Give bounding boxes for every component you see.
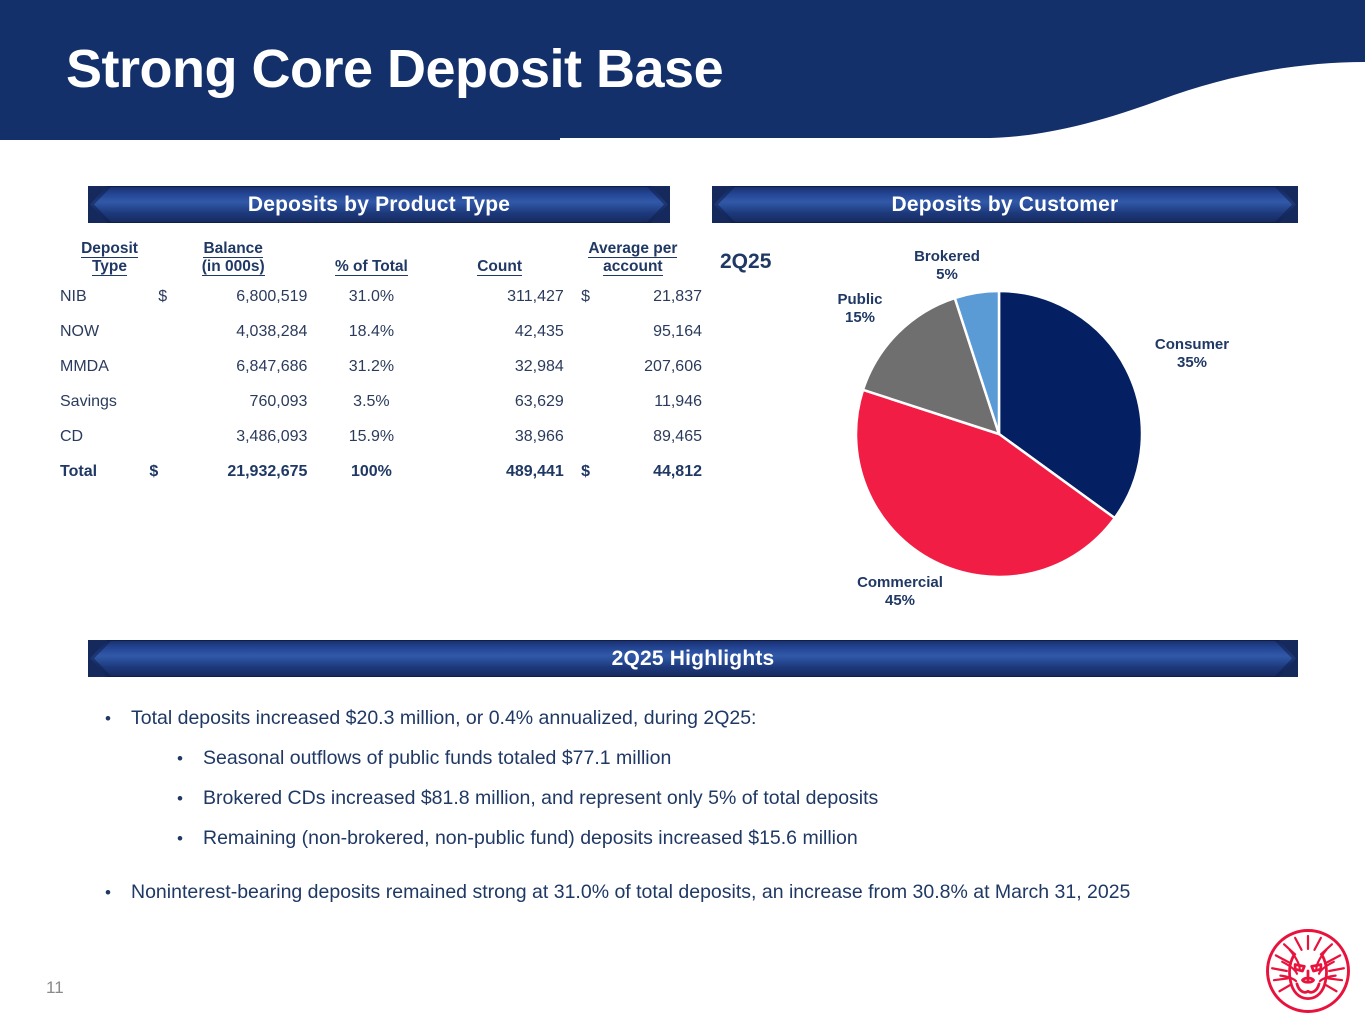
table-row: Savings760,0933.5%63,62911,946: [52, 384, 702, 419]
column-header-count: Count: [435, 240, 563, 279]
cell-average-per-account: 95,164: [564, 314, 702, 349]
table-total-row: Total$21,932,675100%489,441$44,812: [52, 454, 702, 489]
cell-percent-of-total: 15.9%: [307, 419, 435, 454]
cell-count: 38,966: [435, 419, 563, 454]
column-header-line2: account: [603, 258, 662, 276]
bullet-dot-icon: •: [177, 745, 203, 772]
column-header-line2: Type: [92, 258, 127, 276]
chevron-notch-left-icon: [88, 186, 112, 223]
column-header-line1: Deposit: [81, 240, 138, 258]
pie-label-name: Commercial: [857, 574, 943, 591]
cell-percent-of-total: 31.2%: [307, 349, 435, 384]
cell-deposit-type: MMDA: [52, 349, 159, 384]
banner-label: Deposits by Customer: [892, 193, 1119, 217]
column-header-line1: Average per: [588, 240, 677, 258]
column-header-average-per-account: Average per account: [564, 240, 702, 279]
cell-balance: 760,093: [159, 384, 307, 419]
bullet-item-level-2: •Remaining (non-brokered, non-public fun…: [177, 825, 1305, 852]
column-header-percent-of-total: % of Total: [307, 240, 435, 279]
cell-deposit-type: NOW: [52, 314, 159, 349]
bullet-text: Seasonal outflows of public funds totale…: [203, 745, 1305, 772]
cell-count: 311,427: [435, 279, 563, 314]
bullet-dot-icon: •: [105, 705, 131, 732]
pie-label-name: Brokered: [914, 248, 980, 265]
column-header-line1: Balance: [203, 240, 262, 258]
bullet-text: Noninterest-bearing deposits remained st…: [131, 879, 1305, 906]
deposits-by-customer-pie-chart: 2Q25 Brokered 5% Public 15% Consumer 35%…: [700, 236, 1300, 616]
cell-count: 63,629: [435, 384, 563, 419]
pie-label-commercial: Commercial 45%: [810, 574, 990, 610]
cell-deposit-type: NIB: [52, 279, 159, 314]
banner-label: Deposits by Product Type: [248, 193, 510, 217]
pie-label-name: Consumer: [1155, 336, 1229, 353]
cell-balance: 3,486,093: [159, 419, 307, 454]
banner-label: 2Q25 Highlights: [612, 647, 775, 671]
banner-highlights: 2Q25 Highlights: [88, 640, 1298, 677]
table-row: NIB$6,800,51931.0%311,427$21,837: [52, 279, 702, 314]
cell-count: 32,984: [435, 349, 563, 384]
bullet-item-level-2: •Brokered CDs increased $81.8 million, a…: [177, 785, 1305, 812]
deposits-by-product-type-table: Deposit Type Balance (in 000s) % of Tota…: [52, 240, 702, 489]
page-title: Strong Core Deposit Base: [66, 38, 723, 100]
bullet-group-gap: [105, 865, 1305, 879]
table-row: MMDA6,847,68631.2%32,984207,606: [52, 349, 702, 384]
cell-average-per-account: $21,837: [564, 279, 702, 314]
bullet-text: Total deposits increased $20.3 million, …: [131, 705, 1305, 732]
cell-balance: $21,932,675: [159, 454, 307, 489]
bullet-item-level-2: •Seasonal outflows of public funds total…: [177, 745, 1305, 772]
cell-percent-of-total: 31.0%: [307, 279, 435, 314]
highlights-bullet-list: •Total deposits increased $20.3 million,…: [105, 705, 1305, 919]
cell-balance: 4,038,284: [159, 314, 307, 349]
table-row: NOW4,038,28418.4%42,43595,164: [52, 314, 702, 349]
cell-average-per-account: 11,946: [564, 384, 702, 419]
pie-label-public: Public 15%: [808, 291, 912, 327]
pie-label-value: 15%: [845, 309, 875, 326]
pie-label-value: 35%: [1177, 354, 1207, 371]
cell-average-per-account: $44,812: [564, 454, 702, 489]
currency-symbol: $: [149, 463, 158, 481]
bullet-item-level-1: •Total deposits increased $20.3 million,…: [105, 705, 1305, 732]
bullet-text: Brokered CDs increased $81.8 million, an…: [203, 785, 1305, 812]
banner-deposits-by-customer: Deposits by Customer: [712, 186, 1298, 223]
cell-percent-of-total: 100%: [307, 454, 435, 489]
page-number: 11: [46, 978, 64, 998]
slide-header: Strong Core Deposit Base: [0, 0, 1365, 145]
cell-count: 489,441: [435, 454, 563, 489]
column-header-line2: (in 000s): [202, 258, 265, 276]
chevron-notch-left-icon: [88, 640, 112, 677]
cell-percent-of-total: 18.4%: [307, 314, 435, 349]
pie-label-brokered: Brokered 5%: [892, 248, 1002, 284]
pie-label-consumer: Consumer 35%: [1132, 336, 1252, 372]
cell-deposit-type: Total: [52, 454, 159, 489]
lion-head-logo-icon: [1262, 925, 1354, 1017]
cell-average-per-account: 89,465: [564, 419, 702, 454]
pie-label-name: Public: [837, 291, 882, 308]
column-header-balance: Balance (in 000s): [159, 240, 307, 279]
cell-percent-of-total: 3.5%: [307, 384, 435, 419]
chevron-notch-right-icon: [1274, 640, 1298, 677]
cell-count: 42,435: [435, 314, 563, 349]
currency-symbol: $: [158, 288, 167, 306]
column-header-line1: Count: [477, 258, 522, 276]
bullet-dot-icon: •: [105, 879, 131, 906]
pie-svg: [700, 236, 1300, 616]
currency-symbol: $: [581, 288, 590, 306]
cell-balance: 6,847,686: [159, 349, 307, 384]
pie-label-value: 5%: [936, 266, 958, 283]
cell-deposit-type: CD: [52, 419, 159, 454]
cell-deposit-type: Savings: [52, 384, 159, 419]
column-header-line1: % of Total: [335, 258, 408, 276]
pie-label-value: 45%: [885, 592, 915, 609]
table-row: CD3,486,09315.9%38,96689,465: [52, 419, 702, 454]
column-header-deposit-type: Deposit Type: [52, 240, 159, 279]
bullet-text: Remaining (non-brokered, non-public fund…: [203, 825, 1305, 852]
cell-average-per-account: 207,606: [564, 349, 702, 384]
table-header-row: Deposit Type Balance (in 000s) % of Tota…: [52, 240, 702, 279]
currency-symbol: $: [581, 463, 590, 481]
chevron-notch-left-icon: [712, 186, 736, 223]
banner-deposits-by-product-type: Deposits by Product Type: [88, 186, 670, 223]
chevron-notch-right-icon: [646, 186, 670, 223]
bullet-item-level-1: •Noninterest-bearing deposits remained s…: [105, 879, 1305, 906]
bullet-dot-icon: •: [177, 825, 203, 852]
chevron-notch-right-icon: [1274, 186, 1298, 223]
cell-balance: $6,800,519: [159, 279, 307, 314]
bullet-dot-icon: •: [177, 785, 203, 812]
